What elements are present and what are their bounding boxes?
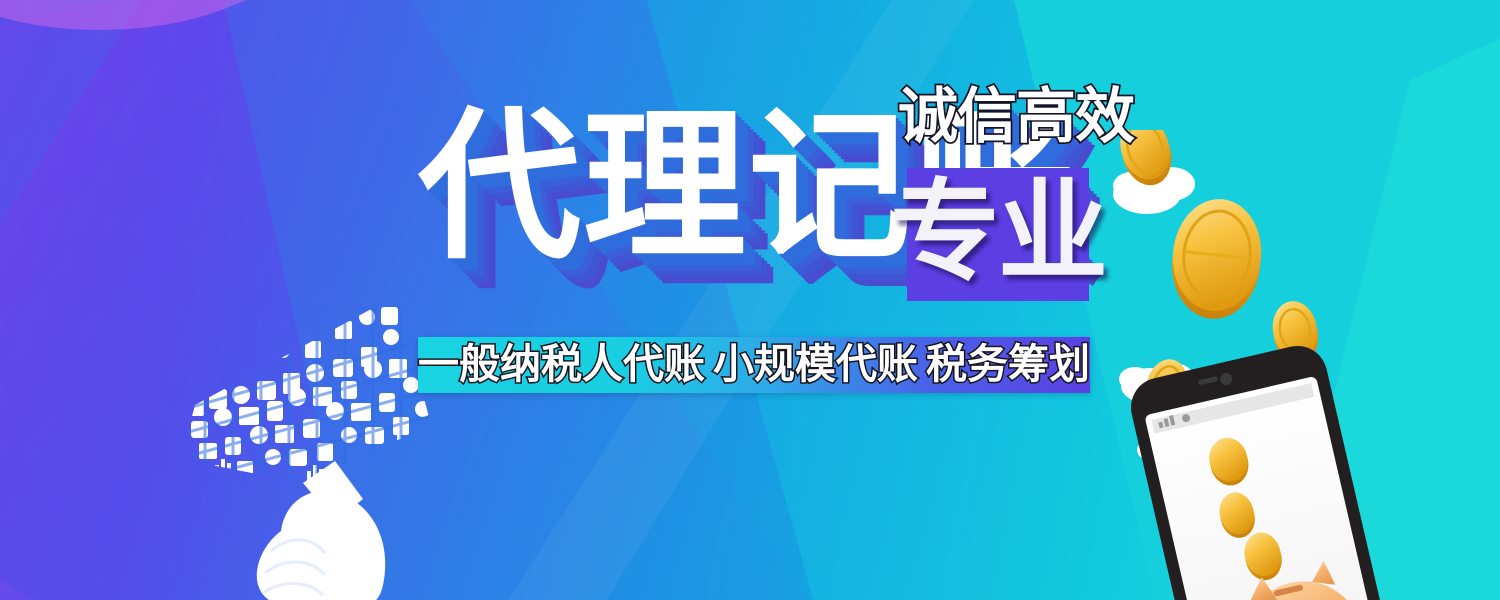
- service-item-3: 税务筹划: [926, 339, 1090, 389]
- promo-banner: 代理记账 诚信高效 专业 一般纳税人代账 小规模代账 税务筹划: [0, 0, 1500, 600]
- phone-coins-art: [1095, 130, 1425, 600]
- tagline-trust-efficiency: 诚信高效: [898, 76, 1098, 158]
- services-bar: 一般纳税人代账 小规模代账 税务筹划: [418, 337, 1090, 393]
- badge-professional: 专业: [907, 168, 1089, 301]
- smartphone: [1125, 340, 1401, 600]
- hand-holding-megaphone: [257, 461, 385, 600]
- page-title: 代理记账: [418, 78, 918, 298]
- megaphone-icon-art: [185, 285, 475, 600]
- service-item-2: 小规模代账: [713, 339, 918, 389]
- badge-professional-label: 专业: [890, 173, 1106, 293]
- service-item-1: 一般纳税人代账: [418, 339, 705, 389]
